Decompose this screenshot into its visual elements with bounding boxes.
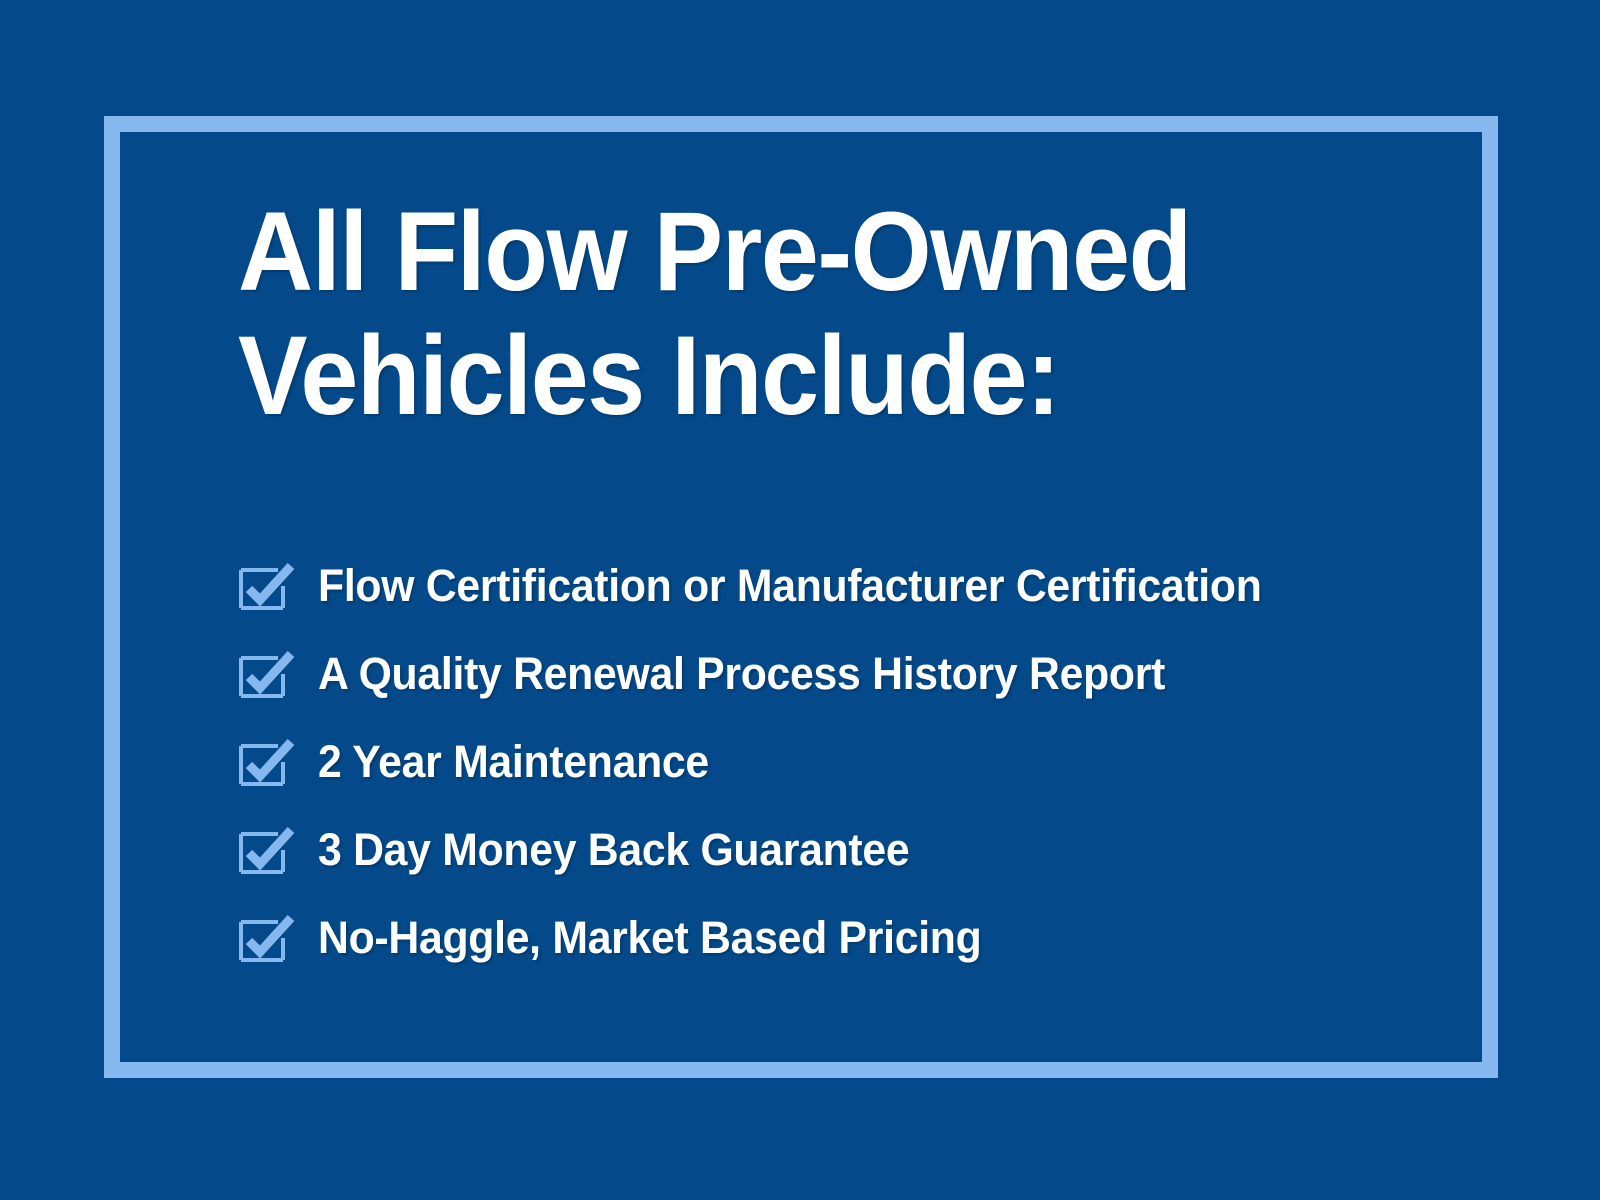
list-item-label: 2 Year Maintenance: [318, 737, 709, 787]
list-item-label: 3 Day Money Back Guarantee: [318, 825, 909, 875]
list-item-label: Flow Certification or Manufacturer Certi…: [318, 561, 1262, 611]
list-item: 2 Year Maintenance: [238, 718, 1448, 806]
list-item: 3 Day Money Back Guarantee: [238, 806, 1448, 894]
benefits-checklist: Flow Certification or Manufacturer Certi…: [238, 542, 1448, 982]
promo-panel: All Flow Pre-Owned Vehicles Include: Flo…: [0, 0, 1600, 1200]
checked-checkbox-icon: [238, 737, 296, 787]
checked-checkbox-icon: [238, 561, 296, 611]
list-item: No-Haggle, Market Based Pricing: [238, 894, 1448, 982]
panel-content: All Flow Pre-Owned Vehicles Include: Flo…: [238, 190, 1448, 438]
checked-checkbox-icon: [238, 913, 296, 963]
checked-checkbox-icon: [238, 649, 296, 699]
list-item-label: No-Haggle, Market Based Pricing: [318, 913, 981, 963]
list-item: A Quality Renewal Process History Report: [238, 630, 1448, 718]
page-title: All Flow Pre-Owned Vehicles Include:: [238, 190, 1363, 438]
list-item: Flow Certification or Manufacturer Certi…: [238, 542, 1448, 630]
list-item-label: A Quality Renewal Process History Report: [318, 649, 1165, 699]
checked-checkbox-icon: [238, 825, 296, 875]
